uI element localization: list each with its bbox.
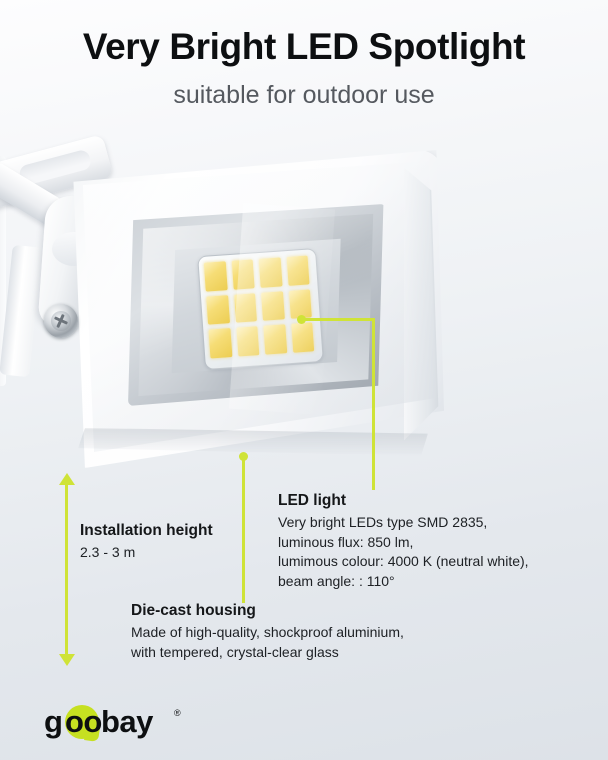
led-chip <box>259 257 282 287</box>
callout-led-light-line: Very bright LEDs type SMD 2835, <box>278 513 529 533</box>
led-chip <box>291 323 314 353</box>
callout-die-cast-housing-line: with tempered, crystal-clear glass <box>131 643 404 663</box>
callout-line-led-horizontal <box>303 318 375 321</box>
logo-letters-oo: oo <box>65 702 102 742</box>
callout-installation-height-title: Installation height <box>80 520 213 541</box>
mounting-bracket-post <box>0 245 43 377</box>
led-chip <box>234 293 257 323</box>
callout-line-housing-vertical <box>242 457 245 603</box>
logo-registered-mark: ® <box>174 708 181 718</box>
header: Very Bright LED Spotlight suitable for o… <box>0 0 608 128</box>
installation-height-arrow-shaft <box>65 482 68 658</box>
led-chip <box>231 259 254 289</box>
page-subtitle: suitable for outdoor use <box>0 79 608 111</box>
infographic-page: Very Bright LED Spotlight suitable for o… <box>0 0 608 760</box>
led-chip-grid <box>204 255 314 358</box>
callout-led-light: LED light Very bright LEDs type SMD 2835… <box>278 490 529 591</box>
callout-led-light-line: lumimous colour: 4000 K (neutral white), <box>278 552 529 572</box>
led-chip <box>286 255 309 285</box>
callout-die-cast-housing-title: Die-cast housing <box>131 600 404 621</box>
goobay-logo: g oo bay ® <box>44 702 194 742</box>
callout-installation-height: Installation height 2.3 - 3 m <box>80 520 213 563</box>
led-chip <box>206 295 229 325</box>
callout-line-led-vertical <box>372 318 375 490</box>
installation-height-arrow-down-icon <box>59 654 75 666</box>
product-image <box>0 128 608 488</box>
page-title: Very Bright LED Spotlight <box>0 24 608 70</box>
logo-letter-g: g <box>44 702 63 742</box>
callout-die-cast-housing: Die-cast housing Made of high-quality, s… <box>131 600 404 662</box>
logo-letters-bay: bay <box>101 702 153 742</box>
led-chip <box>204 261 227 291</box>
led-chip <box>261 291 284 321</box>
callout-die-cast-housing-line: Made of high-quality, shockproof alumini… <box>131 623 404 643</box>
led-chip <box>208 328 231 358</box>
led-chip <box>263 325 286 355</box>
callout-installation-height-line: 2.3 - 3 m <box>80 543 213 563</box>
callout-led-light-line: beam angle: : 110° <box>278 572 529 592</box>
callout-led-light-title: LED light <box>278 490 529 511</box>
led-chip <box>236 326 259 356</box>
callout-led-light-line: luminous flux: 850 lm, <box>278 533 529 553</box>
